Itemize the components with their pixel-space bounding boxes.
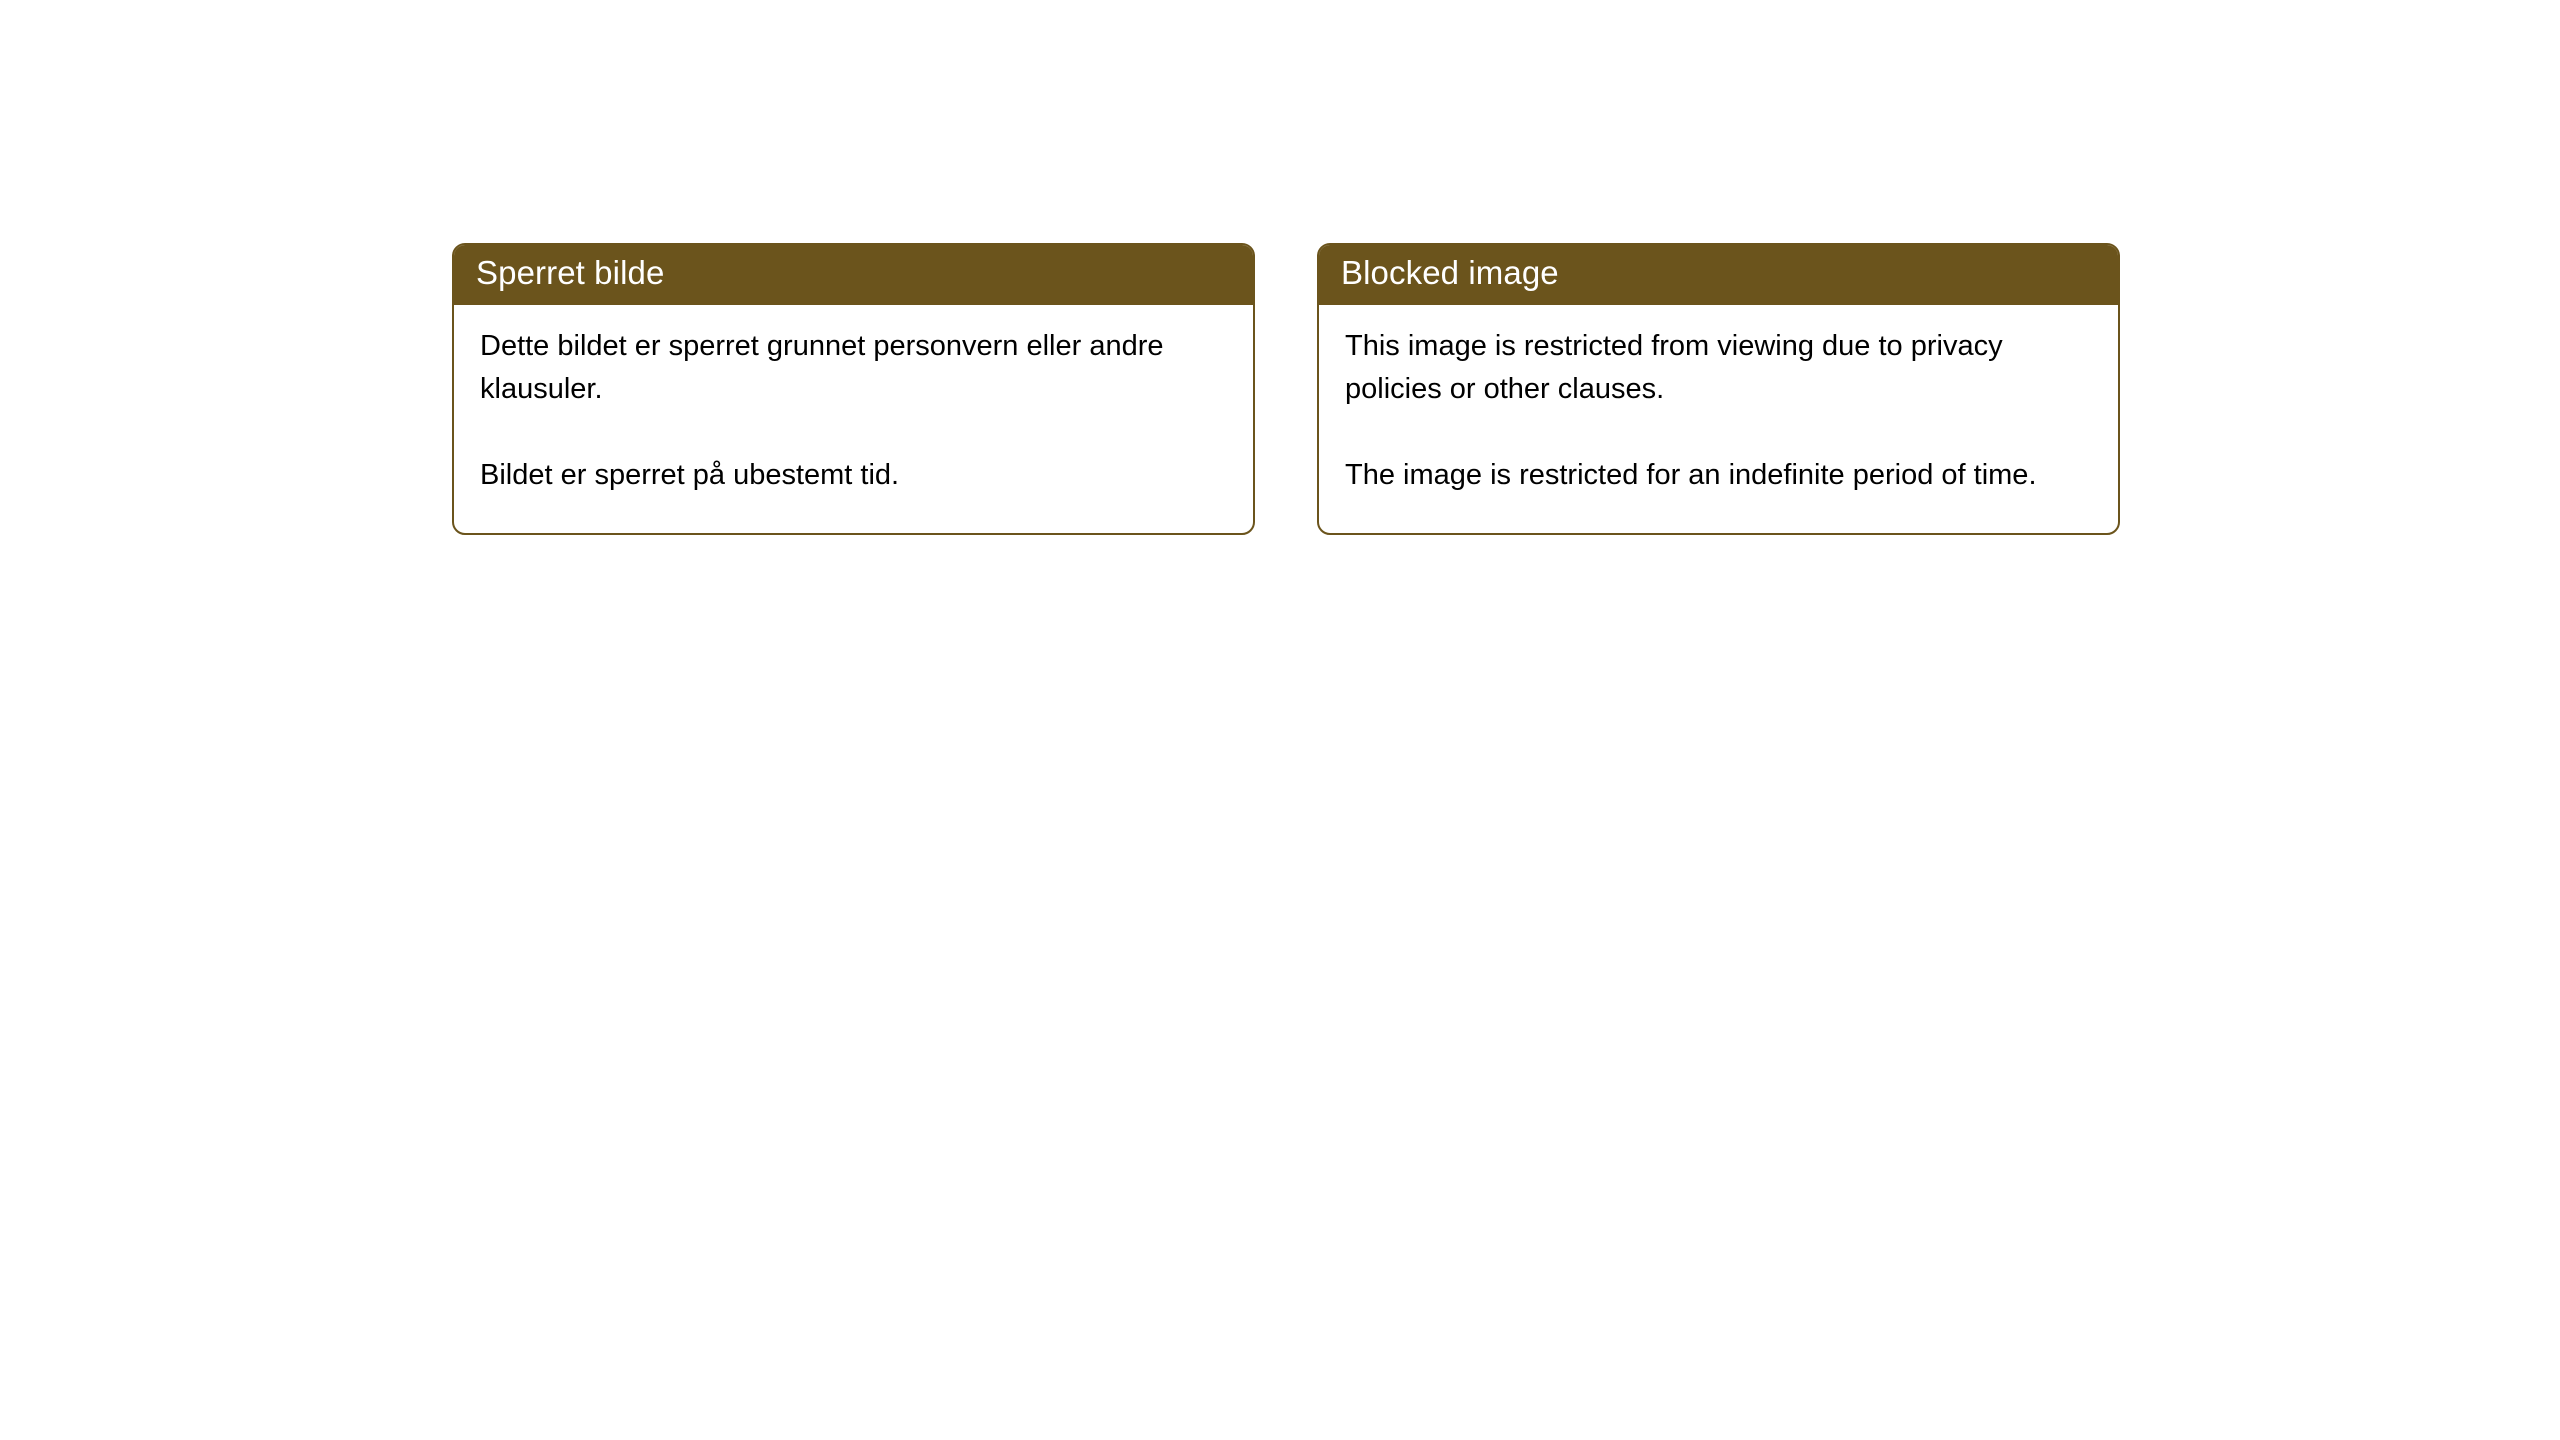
blocked-image-card-english: Blocked image This image is restricted f…	[1317, 243, 2120, 535]
card-body-english: This image is restricted from viewing du…	[1319, 305, 2118, 533]
blocked-image-notice-area: Sperret bilde Dette bildet er sperret gr…	[452, 243, 2120, 535]
card-body-norwegian: Dette bildet er sperret grunnet personve…	[454, 305, 1253, 533]
card-paragraph-duration-english: The image is restricted for an indefinit…	[1345, 454, 2092, 497]
card-paragraph-reason-english: This image is restricted from viewing du…	[1345, 325, 2092, 411]
card-title-english: Blocked image	[1341, 251, 2120, 295]
card-header-english: Blocked image	[1317, 243, 2120, 305]
blocked-image-card-norwegian: Sperret bilde Dette bildet er sperret gr…	[452, 243, 1255, 535]
card-header-norwegian: Sperret bilde	[452, 243, 1255, 305]
card-paragraph-duration-norwegian: Bildet er sperret på ubestemt tid.	[480, 454, 1227, 497]
card-title-norwegian: Sperret bilde	[476, 251, 1255, 295]
card-paragraph-reason-norwegian: Dette bildet er sperret grunnet personve…	[480, 325, 1227, 411]
